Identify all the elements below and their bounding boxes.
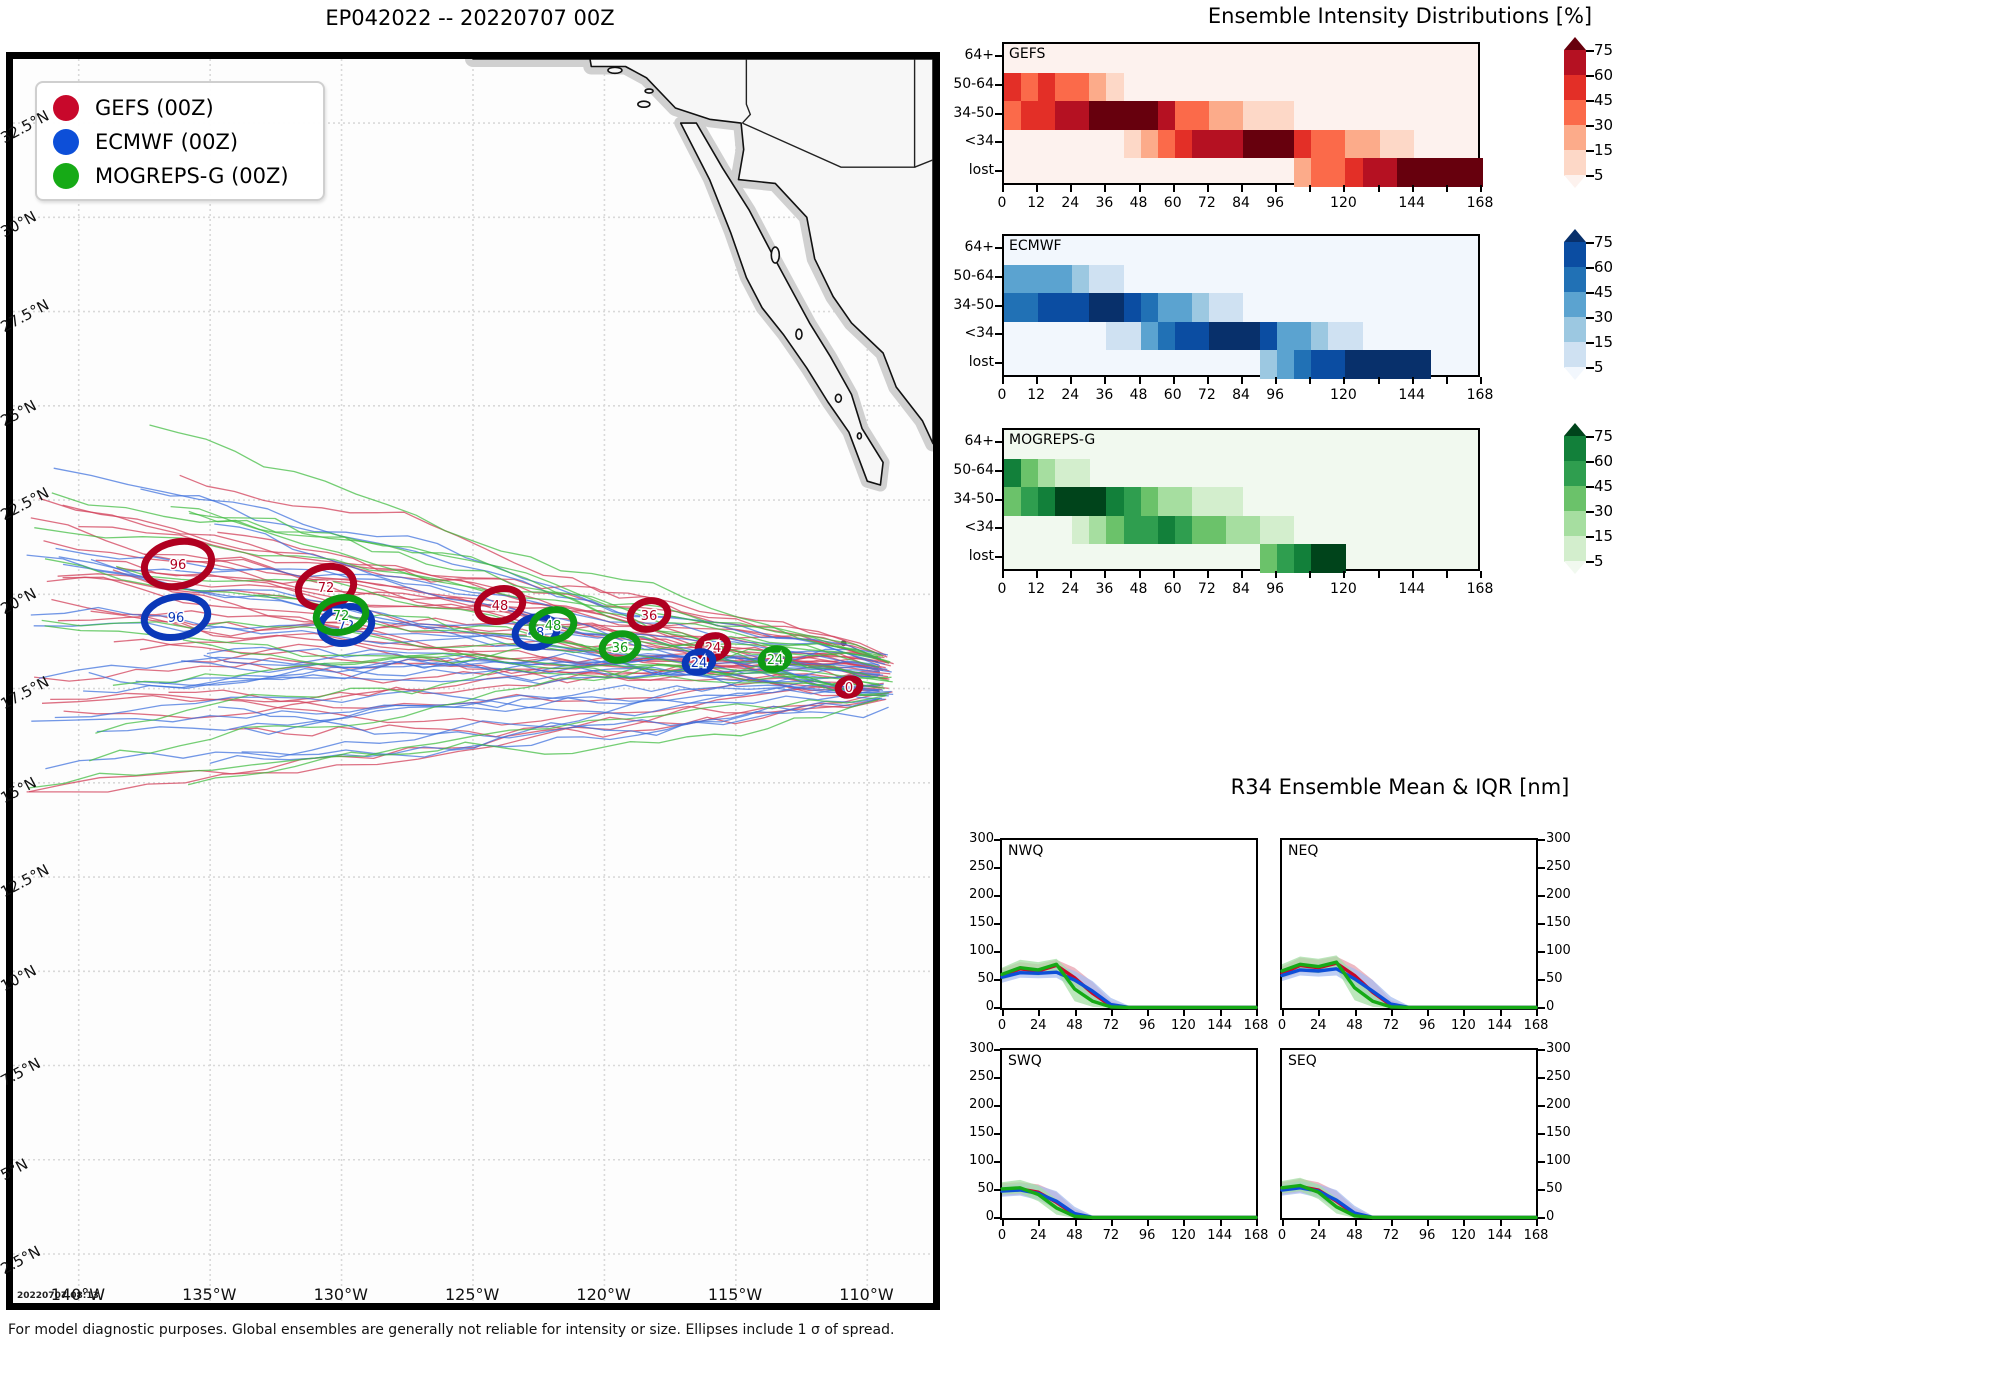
r34-x-label: 72 — [1093, 1228, 1129, 1243]
heatmap-cell — [1072, 265, 1090, 294]
axis-tick — [994, 1077, 1001, 1079]
r34-y-label: 100 — [1546, 943, 1584, 958]
colorbar-tick — [1586, 536, 1594, 538]
axis-tick — [1139, 377, 1141, 384]
axis-tick — [1538, 1007, 1545, 1009]
quadrant-label: NEQ — [1288, 843, 1318, 859]
axis-tick — [1343, 185, 1345, 192]
r34-x-label: 48 — [1337, 1018, 1373, 1033]
r34-title: R34 Ensemble Mean & IQR [nm] — [1000, 775, 1800, 799]
heatmap-cell — [1277, 544, 1295, 573]
heatmap-cell — [1414, 158, 1432, 187]
colorbar-label: 5 — [1594, 552, 1604, 570]
colorbar-segment — [1564, 486, 1586, 512]
axis-tick — [994, 979, 1001, 981]
axis-tick — [1241, 377, 1243, 384]
axis-tick — [1538, 951, 1545, 953]
heatmap-cell — [1397, 130, 1415, 159]
r34-y-label: 250 — [956, 1069, 994, 1084]
intensity-x-label: 144 — [1390, 581, 1434, 597]
heatmap-cell — [1277, 350, 1295, 379]
axis-tick — [1500, 1220, 1502, 1226]
r34-x-label: 120 — [1445, 1018, 1481, 1033]
heatmap-cell — [1004, 459, 1022, 488]
heatmap-cell — [1072, 459, 1090, 488]
r34-y-label: 50 — [956, 1181, 994, 1196]
intensity-heatmap-mogreps-g[interactable]: MOGREPS-G — [1002, 428, 1480, 571]
axis-tick — [1538, 1217, 1545, 1219]
colorbar-label: 60 — [1594, 258, 1613, 276]
heatmap-cell — [1175, 516, 1193, 545]
axis-tick — [1139, 571, 1141, 578]
axis-tick — [995, 362, 1002, 364]
axis-tick — [1070, 377, 1072, 384]
heatmap-cell — [1158, 130, 1176, 159]
heatmap-cell — [1363, 322, 1381, 351]
heatmap-cell — [1243, 101, 1261, 130]
axis-tick — [1309, 571, 1311, 578]
r34-y-label: 150 — [1546, 915, 1584, 930]
r34-x-label: 72 — [1373, 1018, 1409, 1033]
axis-tick — [1355, 1010, 1357, 1016]
r34-y-label: 200 — [1546, 887, 1584, 902]
axis-tick — [1463, 1010, 1465, 1016]
heatmap-cell — [1124, 130, 1142, 159]
heatmap-cell — [1089, 487, 1107, 516]
colorbar-label: 60 — [1594, 452, 1613, 470]
heatmap-cell — [1192, 487, 1210, 516]
colorbar-min-arrow — [1564, 367, 1586, 380]
ellipse-hour-label: 0 — [845, 681, 853, 696]
heatmap-cell — [1260, 322, 1278, 351]
colorbar-tick — [1586, 317, 1594, 319]
r34-y-label: 200 — [1546, 1097, 1584, 1112]
heatmap-cell — [1141, 101, 1159, 130]
colorbar-segment — [1564, 100, 1586, 126]
heatmap-cell — [1363, 130, 1381, 159]
r34-x-label: 120 — [1445, 1228, 1481, 1243]
intensity-heatmap-gefs[interactable]: GEFS — [1002, 42, 1480, 185]
colorbar-segment — [1564, 75, 1586, 101]
heatmap-cell — [1072, 487, 1090, 516]
r34-plot — [1282, 1050, 1536, 1218]
axis-tick — [1183, 1010, 1185, 1016]
heatmap-cell — [1243, 516, 1261, 545]
r34-x-label: 0 — [984, 1228, 1020, 1243]
axis-tick — [994, 1007, 1001, 1009]
heatmap-cell — [1124, 487, 1142, 516]
lon-tick-label: 110°W — [839, 1285, 893, 1304]
heatmap-cell — [1072, 516, 1090, 545]
heatmap-cell — [1038, 487, 1056, 516]
r34-panel-seq[interactable]: SEQ — [1280, 1048, 1538, 1220]
colorbar-tick — [1586, 175, 1594, 177]
heatmap-cell — [1192, 293, 1210, 322]
heatmap-cell — [1294, 130, 1312, 159]
axis-tick — [1220, 1010, 1222, 1016]
track-map-panel[interactable]: 969672727248484836362424240 GEFS (00Z) E… — [6, 52, 940, 1310]
axis-tick — [1463, 1220, 1465, 1226]
ellipse-hour-label: 96 — [170, 558, 187, 573]
heatmap-cell — [1021, 101, 1039, 130]
mogreps-color-dot — [53, 163, 79, 189]
heatmap-cell — [1124, 516, 1142, 545]
heatmap-cell — [1294, 350, 1312, 379]
heatmap-cell — [1106, 487, 1124, 516]
intensity-y-label: lost — [916, 354, 994, 370]
axis-tick — [994, 1105, 1001, 1107]
heatmap-cell — [1465, 158, 1483, 187]
panel-label: MOGREPS-G — [1009, 432, 1095, 448]
axis-tick — [1036, 571, 1038, 578]
heatmap-cell — [1380, 158, 1398, 187]
colorbar-segment — [1564, 292, 1586, 318]
r34-x-label: 24 — [1300, 1228, 1336, 1243]
axis-tick — [1480, 571, 1482, 578]
r34-x-label: 168 — [1518, 1228, 1554, 1243]
r34-x-label: 24 — [1300, 1018, 1336, 1033]
ellipse-hour-label: 36 — [612, 641, 629, 656]
axis-tick — [1173, 185, 1175, 192]
gefs-color-dot — [53, 95, 79, 121]
heatmap-cell — [1209, 101, 1227, 130]
colorbar-label: 15 — [1594, 141, 1613, 159]
heatmap-cell — [1175, 293, 1193, 322]
legend-item-gefs: GEFS (00Z) — [47, 91, 313, 125]
intensity-x-label: 96 — [1253, 581, 1297, 597]
colorbar-segment — [1564, 317, 1586, 343]
map-canvas: 969672727248484836362424240 — [13, 59, 933, 1303]
axis-tick — [1275, 185, 1277, 192]
axis-tick — [1538, 839, 1545, 841]
intensity-x-label: 120 — [1321, 581, 1365, 597]
map-graphics: 969672727248484836362424240 — [13, 59, 933, 1303]
axis-tick — [1391, 1220, 1393, 1226]
heatmap-cell — [1072, 293, 1090, 322]
colorbar-label: 5 — [1594, 166, 1604, 184]
heatmap-cell — [1397, 158, 1415, 187]
intensity-y-label: 50-64 — [916, 268, 994, 284]
r34-panel-neq[interactable]: NEQ — [1280, 838, 1538, 1010]
axis-tick — [1412, 571, 1414, 578]
axis-tick — [995, 305, 1002, 307]
axis-tick — [1538, 1189, 1545, 1191]
r34-panel-swq[interactable]: SWQ — [1000, 1048, 1258, 1220]
heatmap-cell — [1175, 487, 1193, 516]
intensity-y-label: lost — [916, 162, 994, 178]
ellipse-hour-label: 72 — [333, 609, 350, 624]
colorbar-segment — [1564, 242, 1586, 268]
heatmap-cell — [1055, 487, 1073, 516]
axis-tick — [1104, 571, 1106, 578]
colorbar-tick — [1586, 125, 1594, 127]
axis-tick — [1275, 571, 1277, 578]
axis-tick — [994, 1161, 1001, 1163]
r34-y-label: 150 — [956, 1125, 994, 1140]
heatmap-cell — [1414, 350, 1432, 379]
axis-tick — [1139, 185, 1141, 192]
heatmap-cell — [1243, 130, 1261, 159]
axis-tick — [1036, 377, 1038, 384]
quadrant-label: NWQ — [1008, 843, 1043, 859]
r34-x-label: 0 — [1264, 1228, 1300, 1243]
axis-tick — [994, 839, 1001, 841]
axis-tick — [994, 1133, 1001, 1135]
axis-tick — [994, 1217, 1001, 1219]
heatmap-cell — [1311, 130, 1329, 159]
colorbar-tick — [1586, 242, 1594, 244]
heatmap-cell — [1277, 130, 1295, 159]
lon-tick-label: 125°W — [445, 1285, 499, 1304]
axis-tick — [1378, 571, 1380, 578]
axis-tick — [1536, 1220, 1538, 1226]
intensity-y-label: <34 — [916, 519, 994, 535]
heatmap-cell — [1448, 158, 1466, 187]
r34-y-label: 0 — [956, 1209, 994, 1224]
intensity-x-label: 96 — [1253, 195, 1297, 211]
r34-x-label: 24 — [1020, 1228, 1056, 1243]
colorbar-tick — [1586, 50, 1594, 52]
lon-tick-label: 120°W — [576, 1285, 630, 1304]
intensity-x-label: 144 — [1390, 195, 1434, 211]
heatmap-cell — [1294, 544, 1312, 573]
map-legend: GEFS (00Z) ECMWF (00Z) MOGREPS-G (00Z) — [35, 81, 325, 201]
intensity-y-label: lost — [916, 548, 994, 564]
colorbar-tick — [1586, 342, 1594, 344]
heatmap-cell — [1106, 101, 1124, 130]
heatmap-cell — [1141, 293, 1159, 322]
intensity-y-label: 64+ — [916, 239, 994, 255]
ellipse-hour-label: 96 — [168, 611, 185, 626]
heatmap-cell — [1277, 101, 1295, 130]
heatmap-cell — [1021, 459, 1039, 488]
heatmap-cell — [1038, 265, 1056, 294]
colorbar-tick — [1586, 367, 1594, 369]
heatmap-cell — [1311, 322, 1329, 351]
axis-tick — [1275, 377, 1277, 384]
intensity-y-label: 34-50 — [916, 297, 994, 313]
r34-y-label: 100 — [1546, 1153, 1584, 1168]
r34-x-label: 24 — [1020, 1018, 1056, 1033]
colorbar-tick — [1586, 100, 1594, 102]
colorbar-label: 30 — [1594, 502, 1613, 520]
axis-tick — [1538, 1077, 1545, 1079]
r34-y-label: 200 — [956, 1097, 994, 1112]
axis-tick — [995, 141, 1002, 143]
colorbar-tick — [1586, 267, 1594, 269]
panel-label: ECMWF — [1009, 238, 1062, 254]
r34-x-label: 72 — [1093, 1018, 1129, 1033]
r34-x-label: 168 — [1518, 1018, 1554, 1033]
heatmap-cell — [1277, 322, 1295, 351]
axis-tick — [1536, 1010, 1538, 1016]
axis-tick — [995, 527, 1002, 529]
heatmap-cell — [1380, 130, 1398, 159]
axis-tick — [1070, 571, 1072, 578]
heatmap-cell — [1055, 293, 1073, 322]
footer-note: For model diagnostic purposes. Global en… — [8, 1322, 894, 1338]
axis-tick — [1538, 979, 1545, 981]
page-title: EP042022 -- 20220707 00Z — [0, 6, 940, 30]
heatmap-cell — [1226, 322, 1244, 351]
intensity-y-label: 64+ — [916, 433, 994, 449]
axis-tick — [1343, 377, 1345, 384]
colorbar-label: 45 — [1594, 91, 1613, 109]
colorbar-tick — [1586, 292, 1594, 294]
r34-x-label: 96 — [1129, 1228, 1165, 1243]
ellipse-hour-label: 48 — [492, 599, 509, 614]
legend-label: MOGREPS-G (00Z) — [95, 164, 289, 188]
axis-tick — [1538, 1105, 1545, 1107]
colorbar-tick — [1586, 75, 1594, 77]
r34-y-label: 250 — [1546, 1069, 1584, 1084]
heatmap-cell — [1175, 322, 1193, 351]
ecmwf-color-dot — [53, 129, 79, 155]
heatmap-cell — [1294, 101, 1312, 130]
intensity-y-label: 50-64 — [916, 462, 994, 478]
heatmap-cell — [1106, 73, 1124, 102]
heatmap-cell — [1311, 158, 1329, 187]
heatmap-cell — [1038, 293, 1056, 322]
lon-tick-label: 135°W — [182, 1285, 236, 1304]
axis-tick — [1173, 571, 1175, 578]
axis-tick — [1104, 377, 1106, 384]
heatmap-cell — [1328, 322, 1346, 351]
heatmap-cell — [1345, 350, 1363, 379]
colorbar-ecmwf: 75604530155 — [1564, 242, 1624, 367]
r34-y-label: 300 — [1546, 1041, 1584, 1056]
r34-plot — [1002, 840, 1256, 1008]
heatmap-cell — [1294, 322, 1312, 351]
heatmap-cell — [1175, 101, 1193, 130]
axis-tick — [1241, 571, 1243, 578]
colorbar-label: 15 — [1594, 527, 1613, 545]
colorbar-segment — [1564, 125, 1586, 151]
axis-tick — [1378, 185, 1380, 192]
colorbar-max-arrow — [1564, 229, 1586, 242]
heatmap-cell — [1124, 322, 1142, 351]
colorbar-label: 45 — [1594, 283, 1613, 301]
r34-x-label: 144 — [1482, 1228, 1518, 1243]
heatmap-cell — [1072, 101, 1090, 130]
intensity-heatmap-ecmwf[interactable]: ECMWF — [1002, 234, 1480, 377]
lon-tick-label: 140°W — [51, 1285, 105, 1304]
heatmap-cell — [1106, 265, 1124, 294]
colorbar-label: 5 — [1594, 358, 1604, 376]
heatmap-cell — [1192, 516, 1210, 545]
colorbar-label: 75 — [1594, 427, 1613, 445]
heatmap-cell — [1294, 158, 1312, 187]
heatmap-cell — [1021, 73, 1039, 102]
heatmap-cell — [1072, 73, 1090, 102]
axis-tick — [1412, 377, 1414, 384]
colorbar-segment — [1564, 461, 1586, 487]
intensity-title: Ensemble Intensity Distributions [%] — [1000, 4, 1800, 28]
intensity-y-label: 50-64 — [916, 76, 994, 92]
heatmap-cell — [1209, 516, 1227, 545]
axis-tick — [1147, 1220, 1149, 1226]
heatmap-cell — [1226, 487, 1244, 516]
colorbar-segment — [1564, 150, 1586, 176]
colorbar-segment — [1564, 50, 1586, 76]
heatmap-cell — [1192, 101, 1210, 130]
lon-tick-label: 130°W — [314, 1285, 368, 1304]
r34-y-label: 300 — [956, 1041, 994, 1056]
r34-x-label: 96 — [1409, 1018, 1445, 1033]
axis-tick — [1538, 1161, 1545, 1163]
r34-panel-nwq[interactable]: NWQ — [1000, 838, 1258, 1010]
r34-x-label: 144 — [1202, 1018, 1238, 1033]
axis-tick — [1427, 1010, 1429, 1016]
axis-tick — [1002, 571, 1004, 578]
legend-label: ECMWF (00Z) — [95, 130, 238, 154]
heatmap-cell — [1311, 544, 1329, 573]
colorbar-max-arrow — [1564, 423, 1586, 436]
r34-y-label: 0 — [1546, 999, 1584, 1014]
heatmap-cell — [1038, 73, 1056, 102]
axis-tick — [1446, 377, 1448, 384]
panel-label: GEFS — [1009, 46, 1045, 62]
heatmap-cell — [1260, 350, 1278, 379]
heatmap-cell — [1345, 130, 1363, 159]
heatmap-cell — [1243, 322, 1261, 351]
r34-y-label: 250 — [1546, 859, 1584, 874]
axis-tick — [1446, 571, 1448, 578]
axis-tick — [994, 895, 1001, 897]
r34-plot — [1282, 840, 1536, 1008]
axis-tick — [995, 441, 1002, 443]
colorbar-tick — [1586, 511, 1594, 513]
heatmap-cell — [1414, 130, 1432, 159]
heatmap-cell — [1004, 101, 1022, 130]
r34-y-label: 200 — [956, 887, 994, 902]
heatmap-cell — [1158, 101, 1176, 130]
colorbar-segment — [1564, 511, 1586, 537]
r34-x-label: 120 — [1165, 1018, 1201, 1033]
legend-label: GEFS (00Z) — [95, 96, 214, 120]
axis-tick — [1147, 1010, 1149, 1016]
axis-tick — [1282, 1220, 1284, 1226]
ellipse-hour-label: 36 — [641, 609, 658, 624]
intensity-y-label: 34-50 — [916, 105, 994, 121]
axis-tick — [1480, 185, 1482, 192]
axis-tick — [1002, 185, 1004, 192]
r34-y-label: 50 — [956, 971, 994, 986]
r34-plot — [1002, 1050, 1256, 1218]
axis-tick — [1343, 571, 1345, 578]
heatmap-cell — [1328, 544, 1346, 573]
axis-tick — [1002, 377, 1004, 384]
axis-tick — [1070, 185, 1072, 192]
colorbar-label: 75 — [1594, 41, 1613, 59]
r34-y-label: 50 — [1546, 971, 1584, 986]
axis-tick — [1500, 1010, 1502, 1016]
axis-tick — [994, 1189, 1001, 1191]
axis-tick — [1282, 1010, 1284, 1016]
heatmap-cell — [1226, 130, 1244, 159]
colorbar-tick — [1586, 486, 1594, 488]
colorbar-segment — [1564, 536, 1586, 562]
heatmap-cell — [1345, 322, 1363, 351]
axis-tick — [1173, 377, 1175, 384]
r34-y-label: 250 — [956, 859, 994, 874]
heatmap-cell — [1106, 322, 1124, 351]
heatmap-cell — [1311, 350, 1329, 379]
heatmap-cell — [1021, 265, 1039, 294]
colorbar-segment — [1564, 267, 1586, 293]
intensity-x-label: 120 — [1321, 195, 1365, 211]
r34-x-label: 48 — [1337, 1228, 1373, 1243]
